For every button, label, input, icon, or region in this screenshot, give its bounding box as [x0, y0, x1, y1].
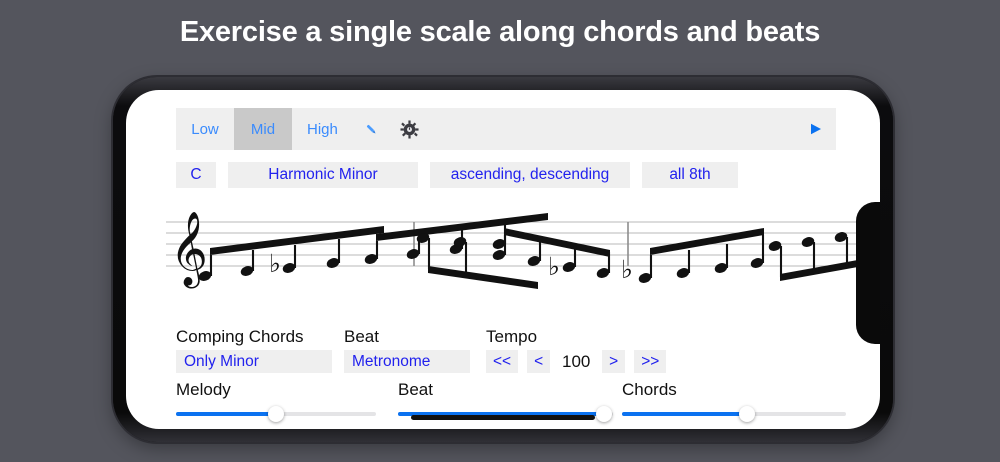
segment-mid[interactable]: Mid	[234, 108, 292, 150]
comping-chords-group: Comping Chords Only Minor	[176, 327, 332, 373]
beat-label: Beat	[344, 327, 470, 347]
segment-high[interactable]: High	[292, 108, 353, 150]
phone-device-frame: Low Mid High	[113, 77, 893, 442]
melody-slider-label: Melody	[176, 380, 231, 400]
beat-slider-label: Beat	[398, 380, 433, 400]
play-icon	[809, 122, 823, 136]
melody-slider-fill	[176, 412, 276, 416]
comping-chords-value[interactable]: Only Minor	[176, 350, 332, 373]
gear-icon[interactable]	[391, 108, 429, 150]
pencil-icon[interactable]	[353, 108, 391, 150]
tempo-increase-button[interactable]: >	[602, 350, 625, 373]
beat-group: Beat Metronome	[344, 327, 470, 373]
chords-slider[interactable]	[622, 407, 846, 423]
flat-accidental: ♭	[269, 249, 281, 278]
melody-slider-thumb[interactable]	[268, 406, 284, 422]
music-notation-staff[interactable]: 𝄞	[166, 208, 880, 300]
phone-screen: Low Mid High	[126, 90, 880, 429]
segment-low[interactable]: Low	[176, 108, 234, 150]
svg-text:♭: ♭	[621, 255, 633, 284]
key-selector[interactable]: C	[176, 162, 216, 188]
app-content: Low Mid High	[126, 90, 880, 429]
tempo-row: << < 100 > >>	[486, 350, 675, 373]
beat-slider-thumb[interactable]	[596, 406, 612, 422]
home-indicator	[411, 415, 595, 420]
tempo-value: 100	[559, 352, 593, 372]
staff-svg: 𝄞	[166, 208, 880, 300]
tempo-decrease-button[interactable]: <	[527, 350, 550, 373]
chords-slider-fill	[622, 412, 747, 416]
tempo-fast-increase-button[interactable]: >>	[634, 350, 666, 373]
comping-chords-label: Comping Chords	[176, 327, 332, 347]
play-button[interactable]	[796, 108, 836, 150]
chords-slider-label: Chords	[622, 380, 677, 400]
tempo-label: Tempo	[486, 327, 675, 347]
svg-text:♭: ♭	[548, 252, 560, 281]
tempo-group: Tempo << < 100 > >>	[486, 327, 675, 373]
top-toolbar: Low Mid High	[176, 108, 836, 150]
device-notch	[856, 202, 880, 344]
tempo-fast-decrease-button[interactable]: <<	[486, 350, 518, 373]
rhythm-selector[interactable]: all 8th	[642, 162, 738, 188]
scale-selector[interactable]: Harmonic Minor	[228, 162, 418, 188]
chords-slider-thumb[interactable]	[739, 406, 755, 422]
direction-selector[interactable]: ascending, descending	[430, 162, 630, 188]
bottom-controls: Comping Chords Only Minor Beat Metronome…	[176, 327, 846, 371]
melody-slider[interactable]	[176, 407, 376, 423]
page-title: Exercise a single scale along chords and…	[0, 16, 1000, 49]
selector-row: C Harmonic Minor ascending, descending a…	[176, 162, 750, 188]
beat-value[interactable]: Metronome	[344, 350, 470, 373]
